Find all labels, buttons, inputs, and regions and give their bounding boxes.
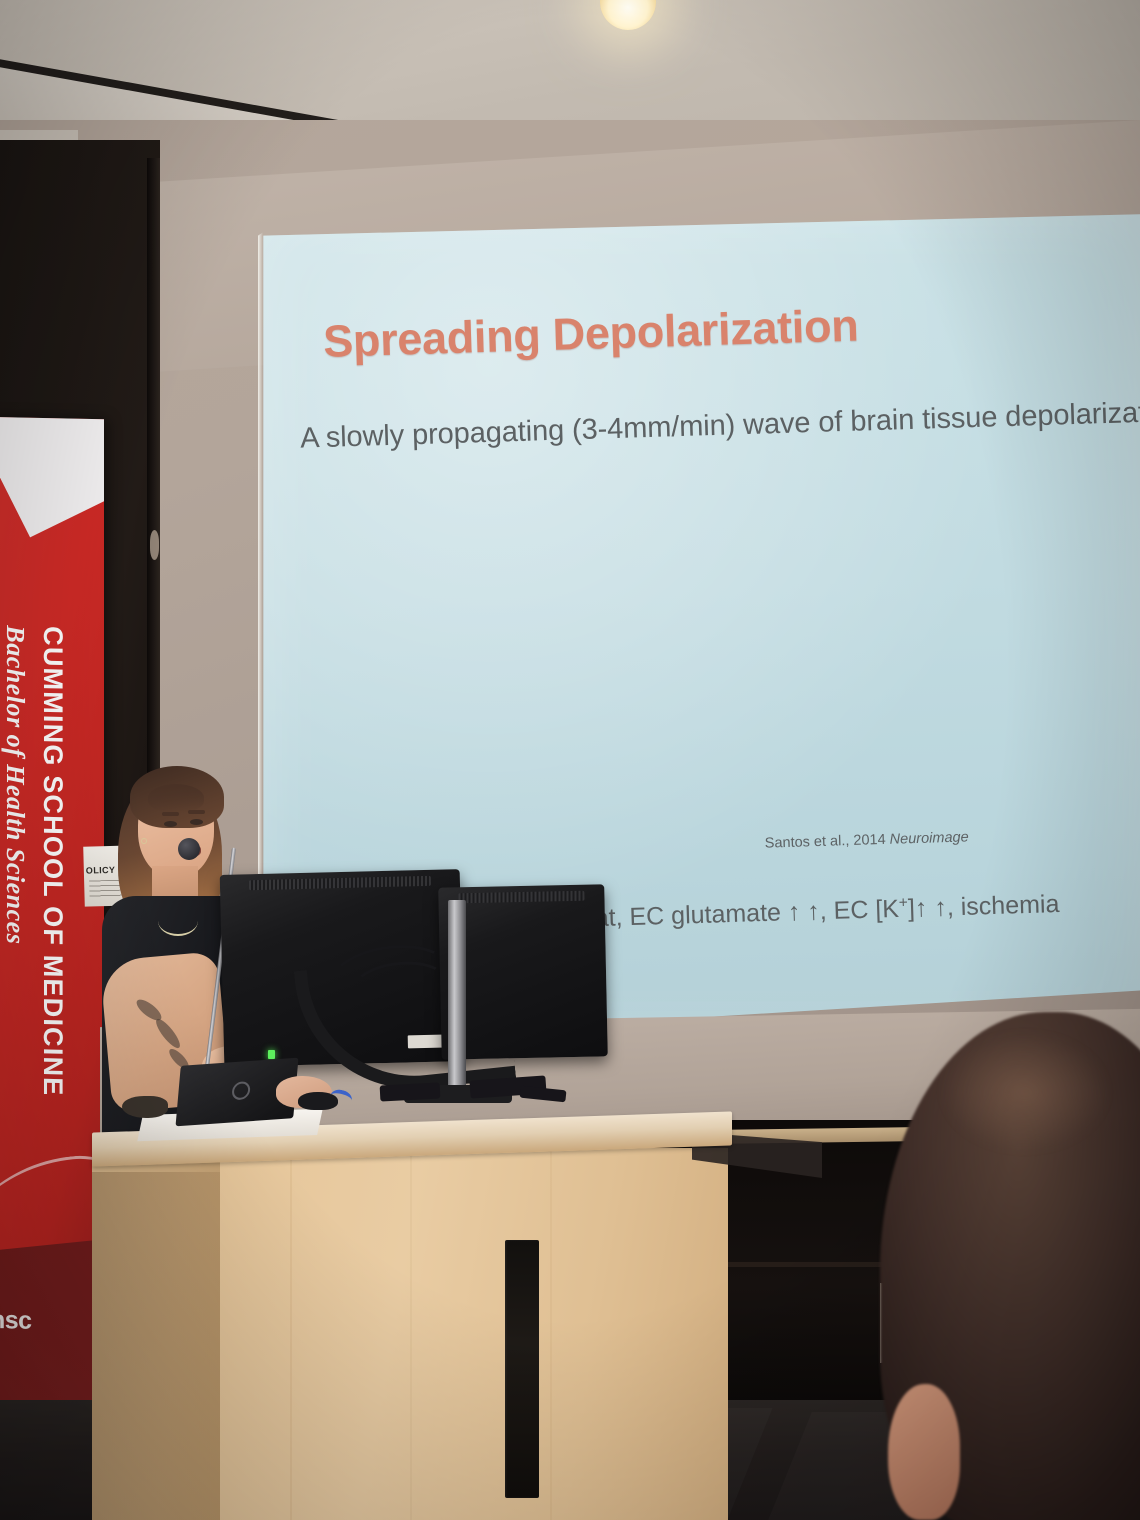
monitor-vent xyxy=(458,891,584,904)
slide-bottom-line: heat, EC glutamate ↑ ↑, EC [K+]↑ ↑, isch… xyxy=(567,890,1060,934)
audience-member-ear xyxy=(888,1384,960,1520)
roll-up-banner: Bachelor of Health Sciences CUMMING SCHO… xyxy=(0,417,104,1430)
lecture-hall-photo: Bachelor of Health Sciences CUMMING SCHO… xyxy=(0,0,1140,1520)
presenter-necklace xyxy=(158,906,198,936)
desk-clutter xyxy=(380,1082,441,1101)
presenter-fringe xyxy=(148,784,204,812)
bottom-line-pre: heat, EC glutamate ↑ ↑, EC [K xyxy=(567,895,900,933)
presenter-eyebrow xyxy=(188,810,205,814)
banner-logo-mark: hsc xyxy=(0,1306,32,1336)
podium-side-shadow xyxy=(92,1172,222,1520)
wall-scuff xyxy=(150,530,159,560)
microphone-head xyxy=(178,838,200,860)
slide-citation: Santos et al., 2014 Neuroimage xyxy=(765,829,969,851)
bottom-line-post: ]↑ ↑, ischemia xyxy=(908,890,1060,923)
presenter-eyebrow xyxy=(162,812,179,816)
power-led xyxy=(268,1050,275,1059)
monitor-arm-post xyxy=(448,900,466,1090)
presenter-eye xyxy=(164,821,177,827)
audience-head-highlight xyxy=(940,1032,1110,1152)
podium xyxy=(92,1122,732,1520)
presenter-eye xyxy=(190,819,203,825)
monitor-vent xyxy=(249,876,432,890)
presenter-earring xyxy=(141,838,147,844)
citation-journal: Neuroimage xyxy=(889,829,968,847)
podium-cable-slot xyxy=(505,1240,539,1498)
podium-front-panel xyxy=(220,1148,728,1520)
banner-line-school: CUMMING SCHOOL OF MEDICINE xyxy=(37,626,68,1097)
citation-author: Santos et al., 2014 xyxy=(765,832,890,852)
slide-body-text: A slowly propagating (3-4mm/min) wave of… xyxy=(300,390,1140,459)
slide-title: Spreading Depolarization xyxy=(322,300,859,368)
banner-text-group: Bachelor of Health Sciences CUMMING SCHO… xyxy=(0,417,104,1430)
wood-grain xyxy=(550,1148,552,1520)
wood-grain xyxy=(290,1148,292,1520)
banner-line-program: Bachelor of Health Sciences xyxy=(0,625,30,945)
desk-object xyxy=(122,1096,168,1118)
laptop-logo xyxy=(232,1081,252,1100)
wood-grain xyxy=(410,1148,412,1520)
